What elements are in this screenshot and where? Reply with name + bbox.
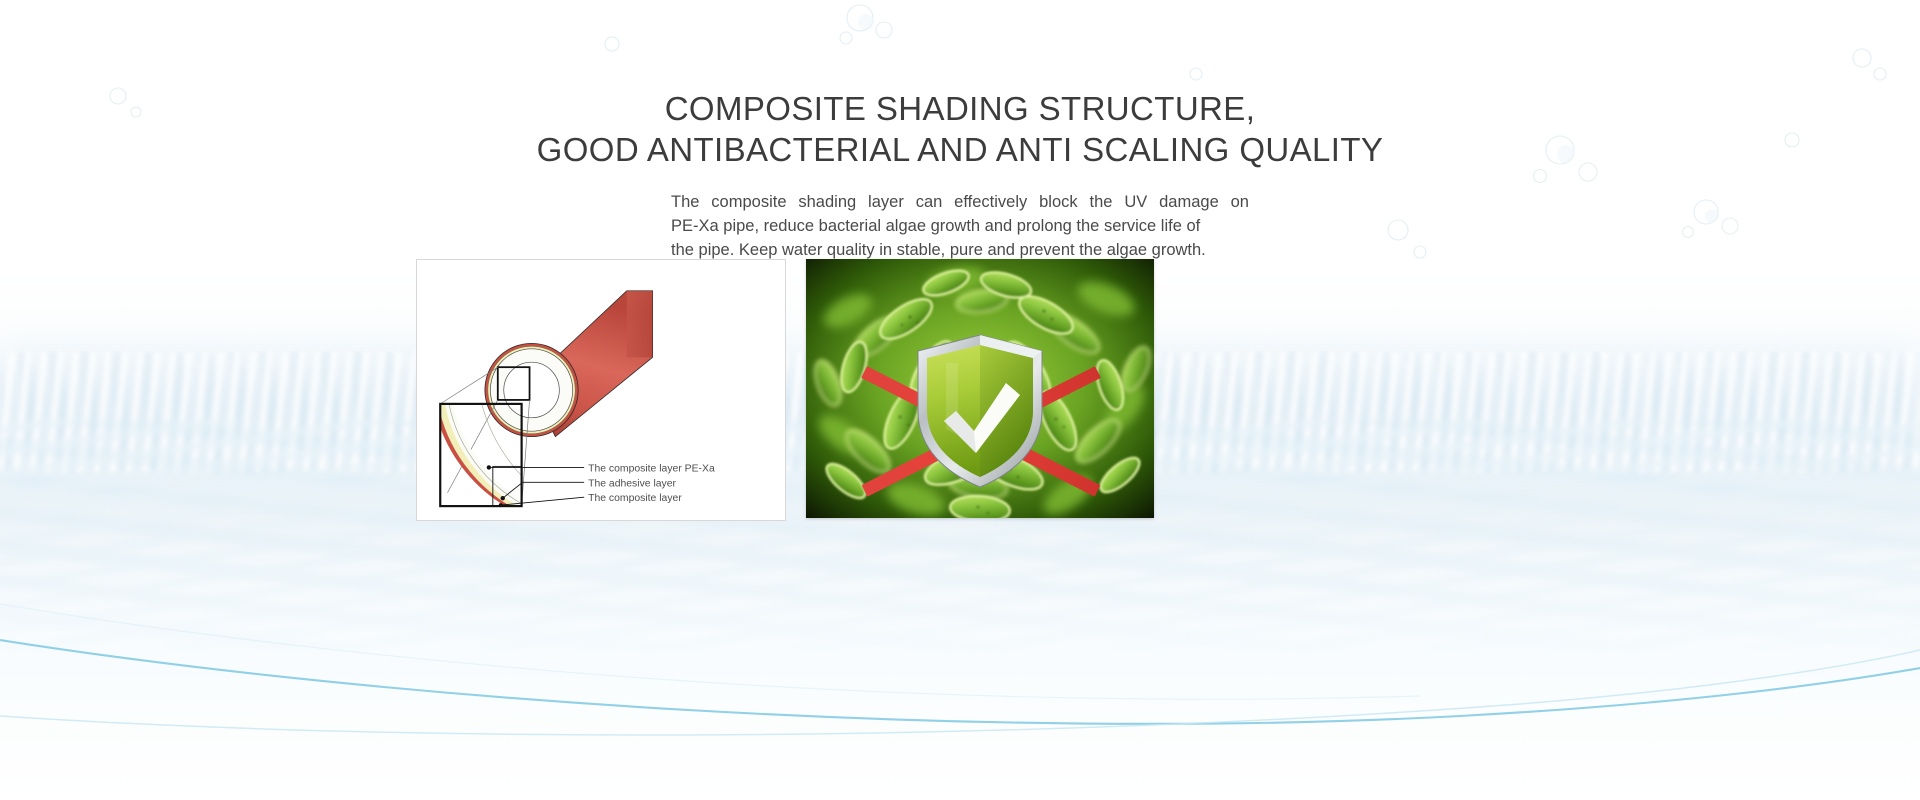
subtitle-line-1: The composite shading layer can effectiv… bbox=[671, 190, 1249, 214]
wave-line-tertiary bbox=[0, 604, 1420, 699]
pipe-bore bbox=[504, 362, 560, 418]
pipe-far-end bbox=[627, 291, 653, 357]
title-line-2: GOOD ANTIBACTERIAL AND ANTI SCALING QUAL… bbox=[0, 129, 1920, 170]
callout-label-2: The adhesive layer bbox=[588, 478, 676, 489]
callout-label-1: The composite layer PE-Xa bbox=[588, 463, 715, 474]
callout-label-3: The composite layer bbox=[588, 493, 682, 504]
pipe-structure-diagram-panel: The composite layer PE-Xa The adhesive l… bbox=[416, 259, 786, 521]
subtitle-paragraph: The composite shading layer can effectiv… bbox=[671, 190, 1249, 262]
pipe-diagram-svg: The composite layer PE-Xa The adhesive l… bbox=[417, 260, 785, 520]
subtitle-line-2: PE-Xa pipe, reduce bacterial algae growt… bbox=[671, 214, 1249, 238]
content-panels: The composite layer PE-Xa The adhesive l… bbox=[0, 259, 1920, 529]
header-section: COMPOSITE SHADING STRUCTURE, GOOD ANTIBA… bbox=[0, 0, 1920, 262]
bacteria-shield-svg bbox=[806, 259, 1154, 518]
title-line-1: COMPOSITE SHADING STRUCTURE, bbox=[0, 88, 1920, 129]
pipe-illustration bbox=[485, 291, 653, 437]
antibacterial-shield-image bbox=[806, 259, 1154, 518]
wave-line-primary bbox=[0, 640, 1920, 724]
page-title: COMPOSITE SHADING STRUCTURE, GOOD ANTIBA… bbox=[0, 88, 1920, 170]
